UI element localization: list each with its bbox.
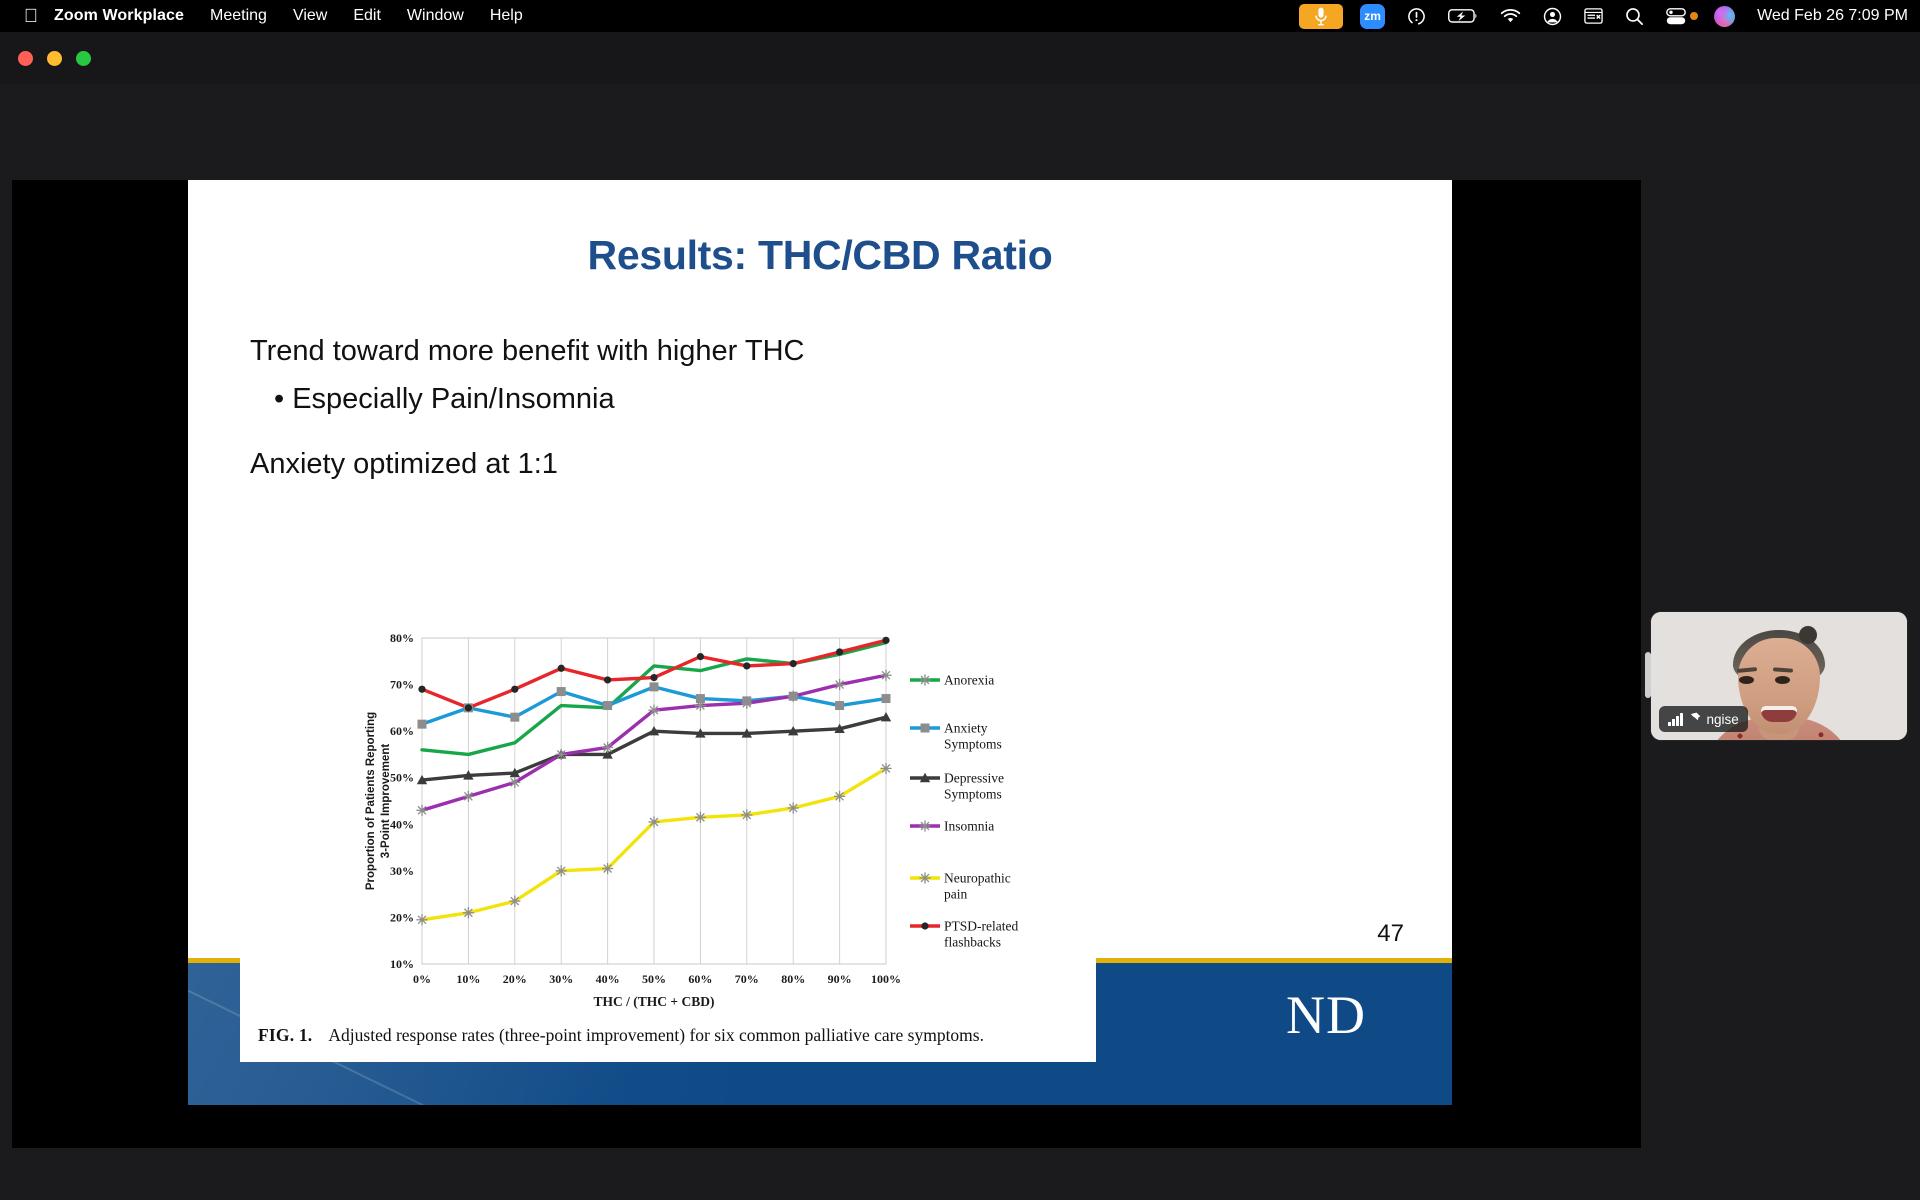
figure-caption: FIG. 1.Adjusted response rates (three-po… bbox=[258, 1025, 1088, 1046]
svg-text:100%: 100% bbox=[871, 972, 901, 986]
slide-body-line-2: Anxiety optimized at 1:1 bbox=[250, 448, 558, 481]
svg-text:0%: 0% bbox=[413, 972, 431, 986]
svg-text:3-Point Improvement: 3-Point Improvement bbox=[380, 744, 392, 859]
chart-canvas: 10%20%30%40%50%60%70%80%0%10%20%30%40%50… bbox=[240, 620, 1096, 1062]
macos-menu-bar:  Zoom Workplace Meeting View Edit Windo… bbox=[0, 0, 1920, 32]
svg-text:Symptoms: Symptoms bbox=[944, 737, 1002, 752]
participant-video-tile[interactable]: ngise bbox=[1651, 612, 1907, 740]
svg-text:40%: 40% bbox=[596, 972, 620, 986]
menu-item-view[interactable]: View bbox=[293, 7, 327, 25]
slide-body-line-1: Trend toward more benefit with higher TH… bbox=[250, 335, 804, 368]
menu-item-help[interactable]: Help bbox=[490, 7, 523, 25]
menu-bar-clock[interactable]: Wed Feb 26 7:09 PM bbox=[1757, 7, 1908, 25]
svg-text:Depressive: Depressive bbox=[944, 771, 1004, 786]
svg-text:20%: 20% bbox=[390, 910, 414, 924]
svg-text:THC / (THC + CBD): THC / (THC + CBD) bbox=[594, 994, 715, 1009]
microphone-icon[interactable] bbox=[1299, 4, 1343, 29]
apple-logo-icon[interactable]:  bbox=[18, 0, 44, 32]
zoom-meeting-window: Results: THC/CBD Ratio Trend toward more… bbox=[0, 32, 1920, 1200]
menu-item-meeting[interactable]: Meeting bbox=[210, 7, 267, 25]
zoom-app-icon[interactable]: zm bbox=[1349, 0, 1396, 32]
svg-text:Neuropathic: Neuropathic bbox=[944, 871, 1011, 886]
screenshot-window-icon[interactable] bbox=[1573, 0, 1614, 32]
do-not-disturb-icon[interactable] bbox=[1396, 0, 1437, 32]
menu-item-edit[interactable]: Edit bbox=[353, 7, 381, 25]
window-title-bar bbox=[0, 32, 1920, 84]
figure-caption-label: FIG. 1. bbox=[258, 1025, 312, 1045]
svg-text:50%: 50% bbox=[390, 771, 414, 785]
svg-text:80%: 80% bbox=[781, 972, 805, 986]
svg-text:30%: 30% bbox=[549, 972, 573, 986]
figure-panel: 10%20%30%40%50%60%70%80%0%10%20%30%40%50… bbox=[240, 620, 1096, 1062]
recording-indicator-dot bbox=[1690, 12, 1698, 20]
brand-wordmark: ND bbox=[1286, 984, 1366, 1046]
signal-bars-icon bbox=[1668, 713, 1683, 726]
search-icon[interactable] bbox=[1614, 0, 1655, 32]
page-title: Results: THC/CBD Ratio bbox=[188, 232, 1452, 279]
svg-text:70%: 70% bbox=[390, 678, 414, 692]
menu-app-name[interactable]: Zoom Workplace bbox=[54, 7, 184, 25]
shared-screen-area[interactable]: Results: THC/CBD Ratio Trend toward more… bbox=[12, 180, 1641, 1148]
presentation-slide[interactable]: Results: THC/CBD Ratio Trend toward more… bbox=[188, 180, 1452, 1105]
svg-text:10%: 10% bbox=[390, 957, 414, 971]
svg-text:70%: 70% bbox=[735, 972, 759, 986]
participant-name-badge: ngise bbox=[1659, 706, 1748, 732]
svg-text:pain: pain bbox=[944, 887, 967, 902]
maximize-window-button[interactable] bbox=[76, 51, 91, 66]
pin-icon bbox=[1689, 712, 1701, 726]
window-traffic-lights bbox=[18, 51, 105, 66]
svg-text:10%: 10% bbox=[456, 972, 480, 986]
svg-text:40%: 40% bbox=[390, 817, 414, 831]
line-chart: 10%20%30%40%50%60%70%80%0%10%20%30%40%50… bbox=[240, 620, 1096, 1020]
battery-charging-icon[interactable] bbox=[1437, 0, 1489, 32]
svg-text:60%: 60% bbox=[688, 972, 712, 986]
minimize-window-button[interactable] bbox=[47, 51, 62, 66]
close-window-button[interactable] bbox=[18, 51, 33, 66]
svg-text:50%: 50% bbox=[642, 972, 666, 986]
svg-text:Anxiety: Anxiety bbox=[944, 721, 988, 736]
svg-text:flashbacks: flashbacks bbox=[944, 935, 1001, 950]
menu-item-window[interactable]: Window bbox=[407, 7, 464, 25]
svg-text:Proportion of Patients Report: Proportion of Patients Reporting bbox=[365, 712, 377, 890]
participant-name-label: ngise bbox=[1707, 712, 1739, 727]
user-account-icon[interactable] bbox=[1532, 0, 1573, 32]
svg-text:Anorexia: Anorexia bbox=[944, 673, 994, 688]
svg-text:Symptoms: Symptoms bbox=[944, 787, 1002, 802]
wifi-icon[interactable] bbox=[1489, 0, 1532, 32]
control-center-icon[interactable] bbox=[1655, 0, 1688, 32]
svg-text:Insomnia: Insomnia bbox=[944, 819, 994, 834]
svg-text:80%: 80% bbox=[390, 631, 414, 645]
svg-text:20%: 20% bbox=[503, 972, 527, 986]
figure-caption-text: Adjusted response rates (three-point imp… bbox=[328, 1025, 984, 1045]
slide-page-number: 47 bbox=[1377, 920, 1404, 948]
svg-text:60%: 60% bbox=[390, 724, 414, 738]
siri-icon[interactable] bbox=[1702, 0, 1747, 32]
svg-text:30%: 30% bbox=[390, 864, 414, 878]
svg-text:PTSD-related: PTSD-related bbox=[944, 919, 1018, 934]
svg-text:90%: 90% bbox=[828, 972, 852, 986]
slide-body-bullet-1: • Especially Pain/Insomnia bbox=[274, 383, 615, 416]
